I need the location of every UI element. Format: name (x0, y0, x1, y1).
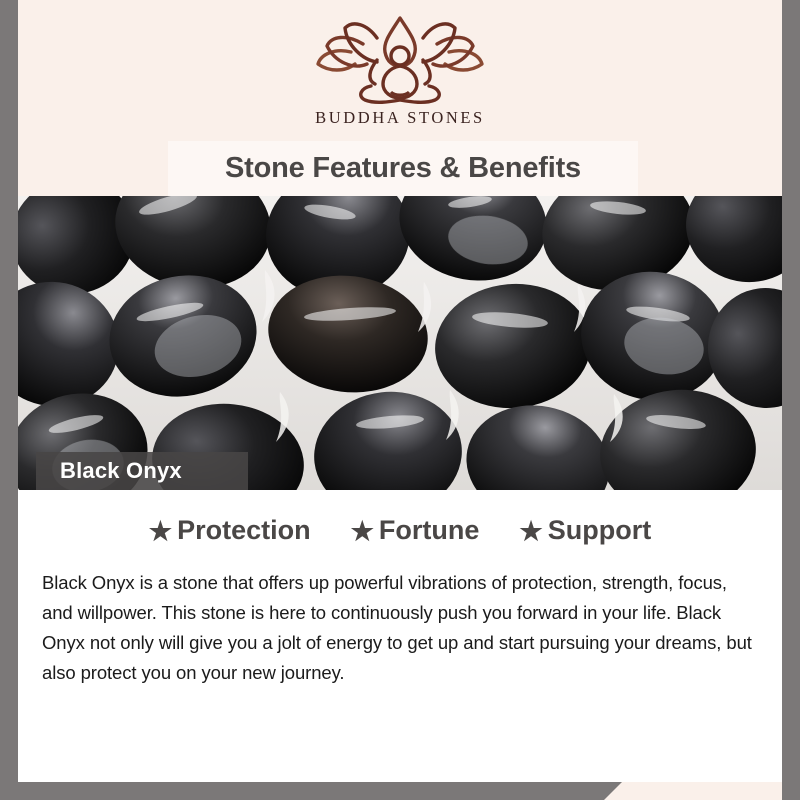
star-icon: ★ (351, 518, 374, 544)
benefit-label: Protection (177, 515, 311, 546)
product-info-card: BUDDHA STONES Stone Features & Benefits (0, 0, 800, 800)
lotus-meditation-figure-icon (305, 14, 495, 106)
stone-photo: Black Onyx (18, 196, 782, 490)
frame-left-accent (0, 0, 18, 800)
star-icon: ★ (519, 518, 542, 544)
stone-photo-illustration (18, 196, 782, 490)
stone-name: Black Onyx (36, 458, 182, 484)
benefit-item-fortune: ★ Fortune (351, 515, 480, 546)
benefits-list: ★ Protection ★ Fortune ★ Support (18, 490, 782, 546)
frame-bottom-accent (0, 782, 622, 800)
benefit-label: Support (548, 515, 651, 546)
section-title-band: Stone Features & Benefits (168, 141, 638, 196)
benefit-label: Fortune (379, 515, 480, 546)
star-icon: ★ (149, 518, 172, 544)
stone-description: Black Onyx is a stone that offers up pow… (42, 568, 756, 688)
frame-right-accent (782, 0, 800, 800)
brand-logo: BUDDHA STONES (18, 14, 782, 128)
benefit-item-protection: ★ Protection (149, 515, 311, 546)
card-body: ★ Protection ★ Fortune ★ Support Black O… (18, 490, 782, 782)
page-title: Stone Features & Benefits (225, 152, 581, 185)
brand-name: BUDDHA STONES (315, 108, 485, 128)
benefit-item-support: ★ Support (519, 515, 651, 546)
stone-name-banner: Black Onyx (36, 452, 248, 490)
